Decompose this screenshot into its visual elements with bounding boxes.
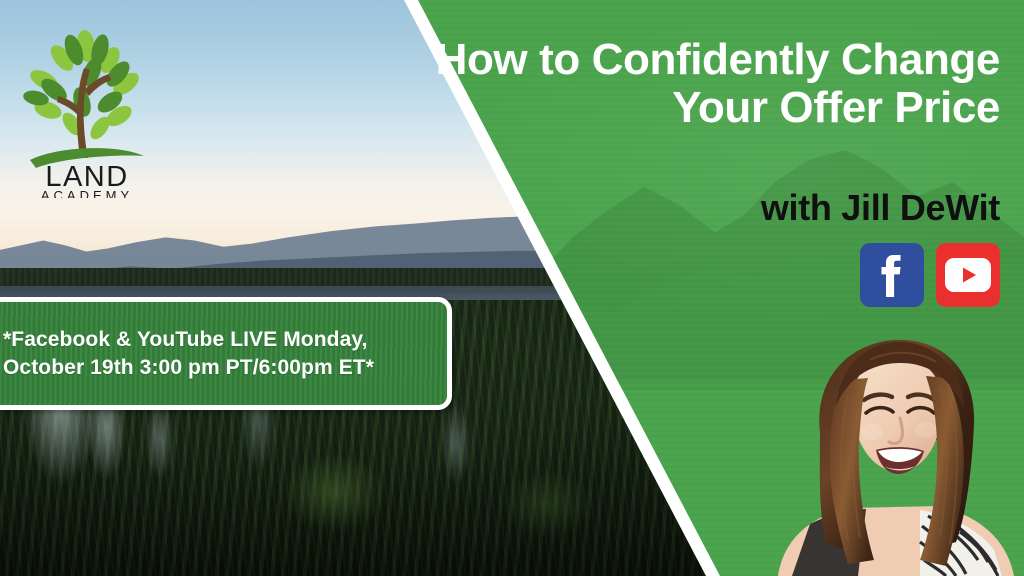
page-title: How to Confidently Change Your Offer Pri…: [400, 36, 1000, 133]
social-links: [860, 243, 1000, 307]
youtube-button[interactable]: [936, 243, 1000, 307]
land-academy-logo: LAND ACADEMY: [14, 28, 160, 198]
presenter-name-heading: with Jill DeWit: [400, 189, 1000, 227]
presenter-figure: [778, 340, 1014, 576]
youtube-icon: [945, 258, 991, 292]
facebook-button[interactable]: [860, 243, 924, 307]
live-announcement-text: *Facebook & YouTube LIVE Monday, October…: [0, 326, 447, 381]
tree-icon: [22, 29, 144, 168]
promo-graphic: LAND ACADEMY *Facebook & YouTube LIVE Mo…: [0, 0, 1024, 576]
facebook-icon: [872, 253, 912, 297]
logo-wordmark-academy: ACADEMY: [41, 188, 133, 198]
presenter-photo: [770, 320, 1024, 576]
live-announcement-banner: *Facebook & YouTube LIVE Monday, October…: [0, 297, 452, 410]
